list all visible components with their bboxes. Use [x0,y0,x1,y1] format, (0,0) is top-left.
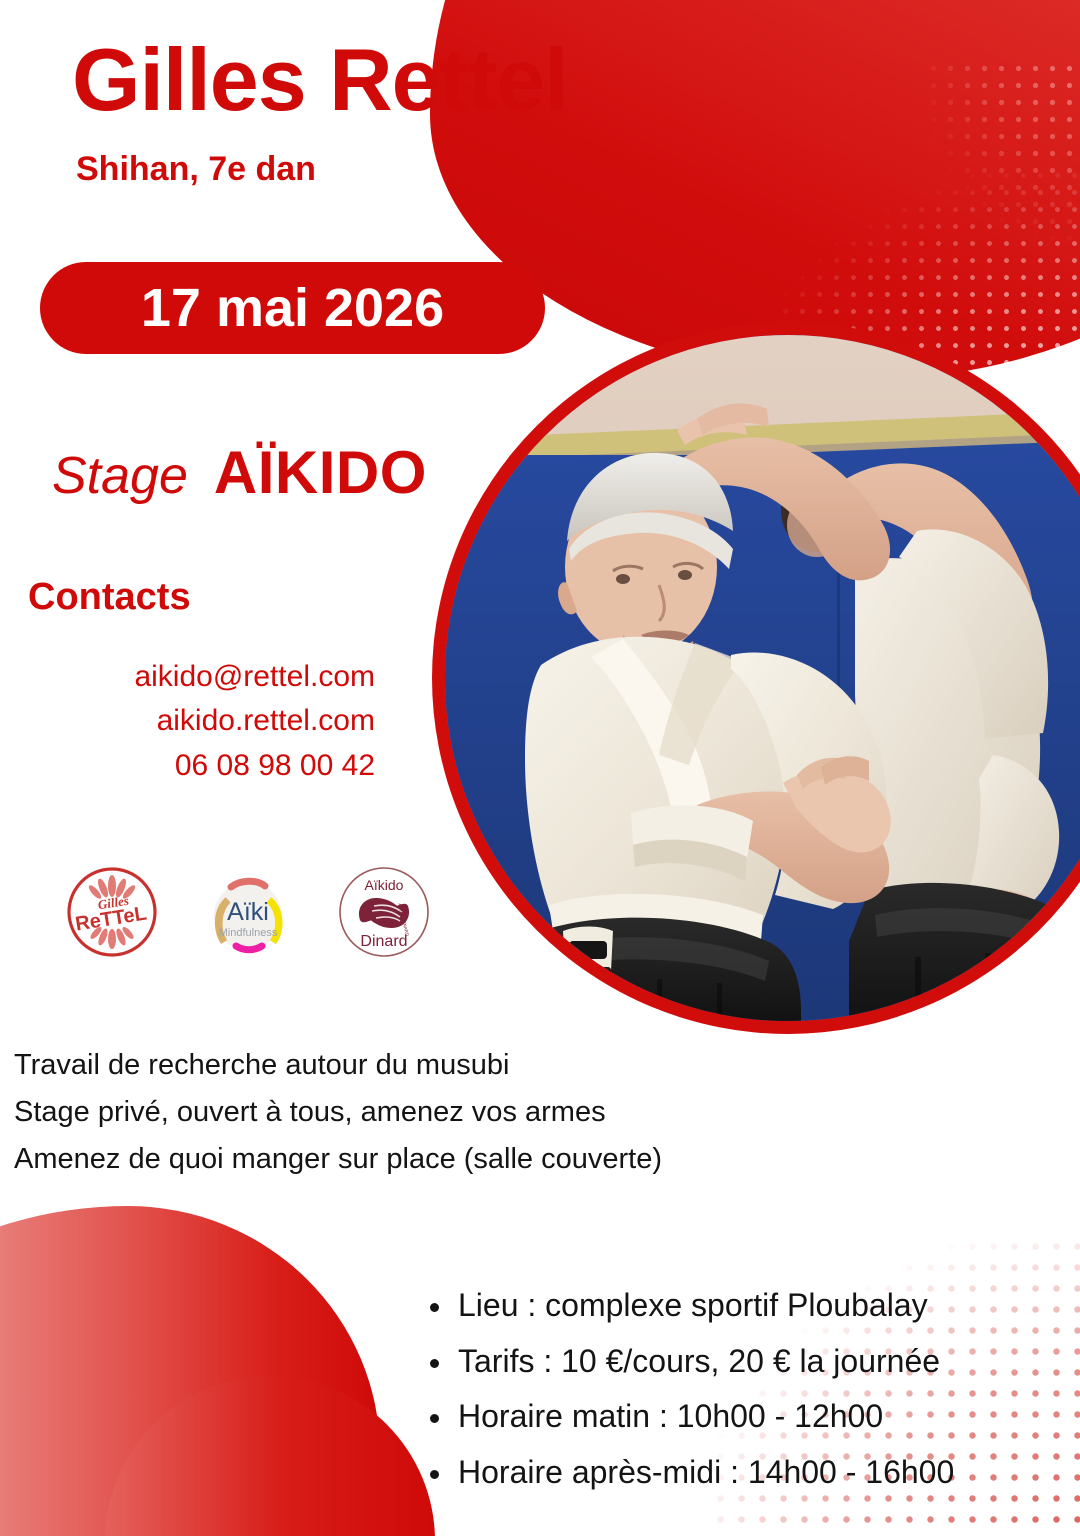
discipline-label: AÏKIDO [214,443,427,503]
note-line: Travail de recherche autour du musubi [14,1042,754,1089]
contacts-heading: Contacts [28,578,191,616]
detail-afternoon-schedule: Horaire après-midi : 14h00 - 16h00 [424,1445,954,1501]
poster-canvas: Gilles Rettel Shihan, 7e dan 17 mai 2026… [0,0,1080,1536]
page-title: Gilles Rettel [72,36,568,124]
note-line: Amenez de quoi manger sur place (salle c… [14,1136,754,1183]
event-details-list: Lieu : complexe sportif Ploubalay Tarifs… [424,1278,954,1501]
photo-artwork [445,335,1080,1021]
aikido-demonstration-photo [445,335,1080,1021]
discipline-prefix-label: Stage [52,450,188,502]
photo-halftone-dots [908,60,1080,260]
aikido-dinard-logo: Aïkido Dinard AÏKIDO DINARD [334,862,434,962]
svg-text:Mindfulness: Mindfulness [219,927,278,939]
detail-pricing: Tarifs : 10 €/cours, 20 € la journée [424,1334,954,1390]
notes-block: Travail de recherche autour du musubi St… [14,1042,754,1183]
detail-location: Lieu : complexe sportif Ploubalay [424,1278,954,1334]
date-badge-label: 17 mai 2026 [141,281,444,335]
date-badge: 17 mai 2026 [40,262,545,354]
partner-logos: Gilles ReTTeL Aïki Mindfulness [62,862,434,962]
svg-text:Dinard: Dinard [360,933,407,950]
contact-email[interactable]: aikido@rettel.com [0,655,375,699]
note-line: Stage privé, ouvert à tous, amenez vos a… [14,1089,754,1136]
svg-text:Aïki: Aïki [227,898,269,926]
contact-website[interactable]: aikido.rettel.com [0,699,375,743]
aiki-mindfulness-logo: Aïki Mindfulness [198,862,298,962]
detail-morning-schedule: Horaire matin : 10h00 - 12h00 [424,1389,954,1445]
discipline-heading: Stage AÏKIDO [52,443,427,503]
contacts-list: aikido@rettel.com aikido.rettel.com 06 0… [0,655,375,788]
gilles-rettel-logo: Gilles ReTTeL [62,862,162,962]
page-subtitle: Shihan, 7e dan [76,152,316,186]
photo-circle-frame [432,322,1080,1034]
svg-text:Aïkido: Aïkido [365,877,404,893]
contact-phone[interactable]: 06 08 98 00 42 [0,744,375,788]
